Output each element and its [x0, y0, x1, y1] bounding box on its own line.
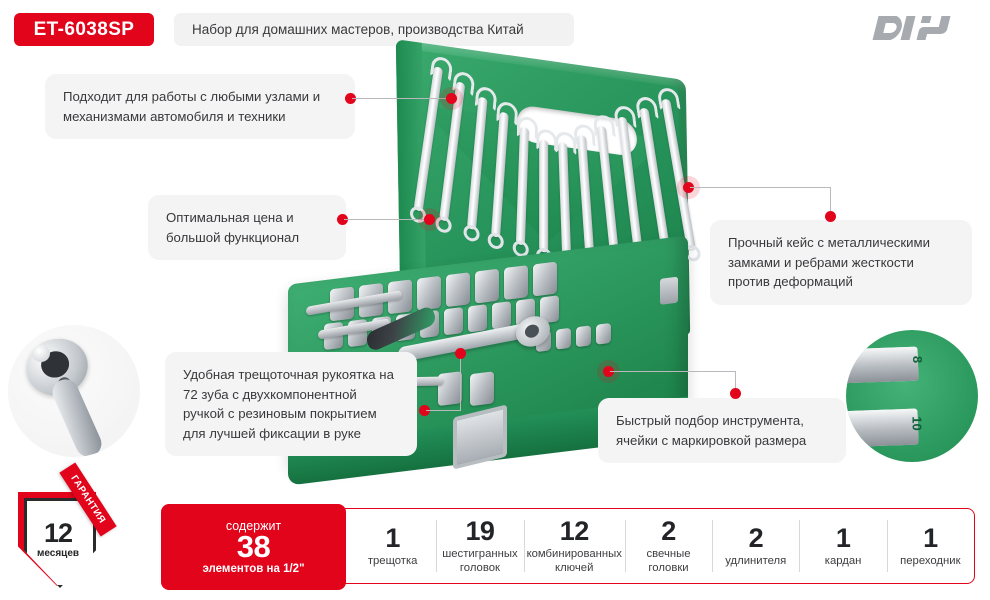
spec-item-label: кардан [825, 554, 862, 568]
spec-item-label: свечные головки [628, 547, 709, 575]
spec-item-list: 1 трещотка 19 шестигранных головок 12 ко… [349, 509, 974, 583]
spec-item-label: шестигранных головок [439, 547, 520, 575]
spec-item-label: трещотка [368, 554, 418, 568]
callout-price-functionality: Оптимальная цена и большой функционал [148, 195, 346, 260]
spec-item-universal-joint: 1 кардан [799, 509, 886, 583]
spec-strip: содержит 38 элементов на 1/2" 1 трещотка… [163, 508, 975, 584]
spec-item-count: 1 [923, 524, 937, 552]
spec-item-count: 19 [466, 517, 495, 545]
ratchet-drive-hole [32, 345, 50, 362]
diy-brand-logo [862, 10, 972, 46]
socket-in-cell-lower [846, 409, 919, 448]
spec-item-count: 2 [749, 524, 763, 552]
spec-total-highlight: содержит 38 элементов на 1/2" [161, 504, 346, 590]
tray-cell-lower [846, 409, 919, 448]
tray-cell-upper [846, 347, 919, 384]
infographic-canvas: ET-6038SP Набор для домашних мастеров, п… [0, 0, 990, 600]
callout-durable-case: Прочный кейс с металлическими замками и … [710, 220, 972, 305]
spec-item-label: удлинителя [725, 554, 786, 568]
spec-item-hex-sockets: 19 шестигранных головок [436, 509, 523, 583]
cell-size-label-lower: 10 [910, 416, 925, 430]
callout-universal-use: Подходит для работы с любыми узлами и ме… [45, 74, 355, 139]
warranty-badge: 12 месяцев ГАРАНТИЯ [10, 492, 106, 592]
spec-item-label: комбинированных ключей [527, 547, 622, 575]
spec-item-ratchet: 1 трещотка [349, 509, 436, 583]
spec-item-label: переходник [900, 554, 960, 568]
spec-total-suffix: элементов на 1/2" [202, 563, 304, 575]
detail-closeup-ratchet [8, 325, 140, 457]
socket-in-cell-upper [846, 347, 919, 384]
callout-size-marked-cells: Быстрый подбор инструмента, ячейки с мар… [598, 398, 846, 463]
spec-item-extensions: 2 удлинителя [712, 509, 799, 583]
spec-item-spark-plug-sockets: 2 свечные головки [625, 509, 712, 583]
spark-plug-socket-2 [470, 371, 494, 406]
case-latch-side [660, 277, 678, 305]
spec-total-number: 38 [237, 531, 270, 564]
spec-item-count: 12 [560, 517, 589, 545]
product-subtitle-pill: Набор для домашних мастеров, производств… [174, 13, 574, 46]
spec-item-count: 1 [836, 524, 850, 552]
spec-item-combination-wrenches: 12 комбинированных ключей [524, 509, 625, 583]
spec-item-count: 2 [661, 517, 675, 545]
warranty-months-unit: месяцев [10, 548, 106, 559]
case-latch-front [453, 404, 507, 469]
ratchet-handle-closeup [48, 375, 105, 457]
spec-item-count: 1 [385, 524, 399, 552]
detail-closeup-marked-cells: 8 10 [846, 330, 978, 462]
sku-badge: ET-6038SP [14, 13, 154, 46]
callout-ratchet-handle: Удобная трещоточная рукоятка на 72 зуба … [165, 352, 417, 456]
spec-item-adapter: 1 переходник [887, 509, 974, 583]
cell-size-label-upper: 8 [910, 356, 925, 363]
